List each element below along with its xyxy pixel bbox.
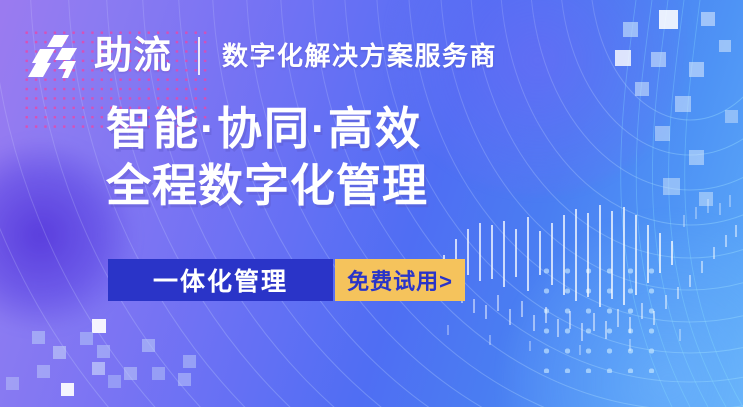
- floating-squares-right: [543, 0, 743, 300]
- brand-header: 助流 数字化解决方案服务商: [28, 30, 497, 82]
- brand-name: 助流: [94, 37, 172, 75]
- headline-block: 智能·协同·高效 全程数字化管理: [106, 100, 428, 214]
- headline-line-2: 全程数字化管理: [106, 157, 428, 214]
- cta-row: 一体化管理 免费试用>: [108, 259, 465, 301]
- integrated-management-button[interactable]: 一体化管理: [108, 259, 333, 301]
- free-trial-button[interactable]: 免费试用>: [335, 259, 465, 301]
- brand-tagline: 数字化解决方案服务商: [222, 43, 497, 69]
- lightning-bolt-logo-icon: [28, 30, 86, 82]
- headline-line-1: 智能·协同·高效: [106, 100, 428, 157]
- promo-banner: 助流 数字化解决方案服务商 智能·协同·高效 全程数字化管理 一体化管理 免费试…: [0, 0, 743, 407]
- brand-divider: [198, 37, 200, 75]
